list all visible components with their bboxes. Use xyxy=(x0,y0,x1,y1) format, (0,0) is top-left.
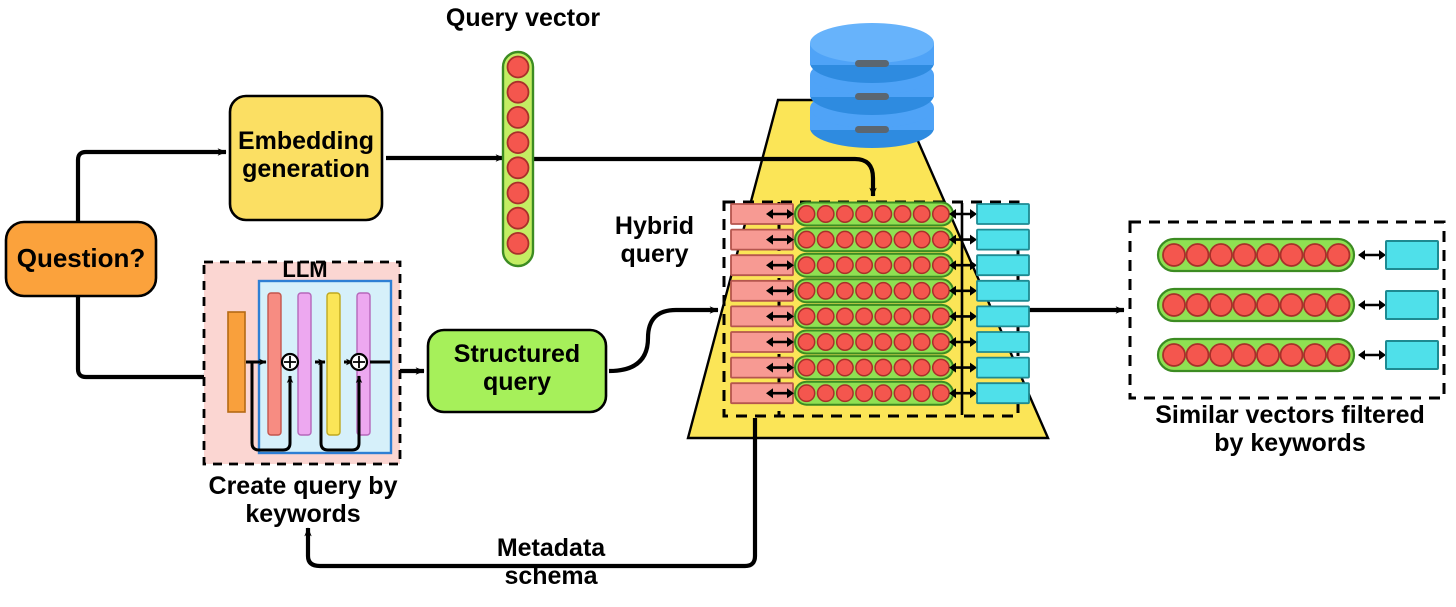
stored-vector-dot xyxy=(837,283,853,299)
stored-vector-dot xyxy=(818,334,834,350)
create-query-caption: Create query by keywords xyxy=(196,472,410,528)
metadata-chip xyxy=(977,383,1029,403)
stored-vector-dot xyxy=(856,308,872,324)
stored-vector-dot xyxy=(798,359,814,375)
edge-question-to-llm xyxy=(78,292,212,377)
result-vector-dot xyxy=(1328,344,1350,366)
stored-vector-dot xyxy=(914,308,930,324)
stored-vector-dot xyxy=(798,206,814,222)
stored-vector-dot xyxy=(914,231,930,247)
metadata-chip xyxy=(977,255,1029,275)
stored-vector-dot xyxy=(837,231,853,247)
llm-ff-bar-2 xyxy=(327,293,340,435)
stored-vector-dot xyxy=(818,283,834,299)
metadata-schema-label: Metadata schema xyxy=(466,534,636,590)
arrow-head-right xyxy=(970,235,977,245)
arrow-head-right xyxy=(970,209,977,219)
metadata-chip xyxy=(977,230,1029,250)
query-vector-dot xyxy=(508,183,529,204)
stored-vector-dot xyxy=(856,257,872,273)
stored-vector-dot xyxy=(933,359,949,375)
result-vector-dot xyxy=(1210,344,1232,366)
result-vector-dot xyxy=(1257,244,1279,266)
stored-vector-dot xyxy=(837,385,853,401)
stored-vector-dot xyxy=(818,308,834,324)
stored-vector-dot xyxy=(875,334,891,350)
query-vector-dot xyxy=(508,107,529,128)
result-rows-group xyxy=(1158,239,1438,371)
stored-vector-dot xyxy=(856,385,872,401)
stored-vector-dot xyxy=(798,283,814,299)
stored-vector-dot xyxy=(894,206,910,222)
metadata-chip xyxy=(977,306,1029,326)
stored-vector-dot xyxy=(894,385,910,401)
arrow-head-right xyxy=(1379,300,1386,310)
query-vector-dot xyxy=(508,132,529,153)
result-vector-dot xyxy=(1281,294,1303,316)
stored-vector-dot xyxy=(837,359,853,375)
stored-vector-dot xyxy=(894,308,910,324)
arrow-head-left xyxy=(1358,250,1365,260)
query-vector-label: Query vector xyxy=(418,4,628,32)
result-vector-dot xyxy=(1187,244,1209,266)
stored-vector-dot xyxy=(933,257,949,273)
stored-vector-dot xyxy=(894,334,910,350)
edge-structuredquery-to-store xyxy=(609,310,718,371)
stored-vector-dot xyxy=(856,231,872,247)
result-metadata-chip xyxy=(1386,291,1438,319)
query-vector-dot xyxy=(508,208,529,229)
query-vector-dot xyxy=(508,157,529,178)
arrow-head-right xyxy=(1379,250,1386,260)
stored-vector-dot xyxy=(875,385,891,401)
database-cylinder-icon xyxy=(810,23,934,148)
arrow-head-left xyxy=(1358,300,1365,310)
result-vector-dot xyxy=(1163,244,1185,266)
stored-vector-dot xyxy=(894,231,910,247)
edge-question-to-embedding xyxy=(78,152,226,228)
stored-vector-dot xyxy=(856,334,872,350)
result-vector-dot xyxy=(1187,294,1209,316)
metadata-chip xyxy=(977,204,1029,224)
result-vector-dot xyxy=(1304,244,1326,266)
stored-vector-dot xyxy=(933,385,949,401)
stored-vector-dot xyxy=(798,385,814,401)
query-vector-dot xyxy=(508,82,529,103)
stored-vector-dot xyxy=(933,334,949,350)
result-vector-dot xyxy=(1328,294,1350,316)
stored-vector-dot xyxy=(875,283,891,299)
llm-label: LLM xyxy=(252,258,358,283)
result-vector-dot xyxy=(1163,344,1185,366)
llm-attention-bar xyxy=(268,293,281,435)
stored-vector-dot xyxy=(818,359,834,375)
stored-vector-dot xyxy=(914,283,930,299)
stored-vector-dot xyxy=(875,359,891,375)
llm-input-bar xyxy=(228,312,245,412)
stored-vector-dot xyxy=(914,359,930,375)
stored-vector-dot xyxy=(875,206,891,222)
result-vector-dot xyxy=(1281,244,1303,266)
stored-vector-dot xyxy=(914,334,930,350)
stored-vector-dot xyxy=(914,385,930,401)
stored-vector-dot xyxy=(818,257,834,273)
result-vector-dot xyxy=(1234,294,1256,316)
stored-vector-dot xyxy=(875,257,891,273)
result-vector-dot xyxy=(1257,294,1279,316)
result-metadata-chip xyxy=(1386,341,1438,369)
metadata-chip xyxy=(977,358,1029,378)
result-vector-dot xyxy=(1304,344,1326,366)
stored-vector-dot xyxy=(933,283,949,299)
stored-vector-dot xyxy=(933,231,949,247)
stored-vector-dot xyxy=(798,231,814,247)
stored-vector-dot xyxy=(837,308,853,324)
stored-vector-dot xyxy=(818,231,834,247)
result-vector-dot xyxy=(1281,344,1303,366)
stored-vector-dot xyxy=(894,257,910,273)
stored-vector-dot xyxy=(856,359,872,375)
result-vector-dot xyxy=(1234,244,1256,266)
stored-vector-dot xyxy=(798,334,814,350)
result-vector-dot xyxy=(1257,344,1279,366)
query-vector-column xyxy=(503,52,533,266)
hybrid-query-label: Hybrid query xyxy=(592,212,717,268)
structured-query-box-label[interactable]: Structured query xyxy=(428,340,606,396)
stored-vector-dot xyxy=(837,206,853,222)
stored-vector-dot xyxy=(894,283,910,299)
result-vector-dot xyxy=(1210,294,1232,316)
result-vector-dot xyxy=(1234,344,1256,366)
metadata-chip xyxy=(977,332,1029,352)
stored-vector-dot xyxy=(856,283,872,299)
query-vector-dot xyxy=(508,233,529,254)
stored-vector-dot xyxy=(933,206,949,222)
stored-vector-dot xyxy=(837,257,853,273)
arrow-head-left xyxy=(1358,350,1365,360)
result-vector-dot xyxy=(1304,294,1326,316)
question-box-label[interactable]: Question? xyxy=(6,244,156,273)
stored-vector-dot xyxy=(798,308,814,324)
stored-vector-dot xyxy=(798,257,814,273)
stored-vector-dot xyxy=(914,206,930,222)
stored-vector-dot xyxy=(818,206,834,222)
llm-group xyxy=(204,262,400,464)
llm-ff-bar-1 xyxy=(298,293,311,435)
stored-vector-dot xyxy=(933,308,949,324)
stored-vector-dot xyxy=(875,308,891,324)
similar-vectors-caption: Similar vectors filtered by keywords xyxy=(1140,401,1440,457)
result-vector-dot xyxy=(1163,294,1185,316)
stored-vector-dot xyxy=(856,206,872,222)
stored-vector-dot xyxy=(818,385,834,401)
metadata-chip xyxy=(977,281,1029,301)
result-metadata-chip xyxy=(1386,241,1438,269)
stored-vector-dot xyxy=(894,359,910,375)
embedding-box-label[interactable]: Embedding generation xyxy=(230,127,382,183)
stored-vector-dot xyxy=(914,257,930,273)
result-vector-dot xyxy=(1328,244,1350,266)
arrow-head-right xyxy=(1379,350,1386,360)
stored-vector-dot xyxy=(875,231,891,247)
diagram-canvas: Query vector Hybrid query Metadata schem… xyxy=(0,0,1456,607)
result-vector-dot xyxy=(1210,244,1232,266)
query-vector-dot xyxy=(508,57,529,78)
stored-vector-dot xyxy=(837,334,853,350)
result-vector-dot xyxy=(1187,344,1209,366)
